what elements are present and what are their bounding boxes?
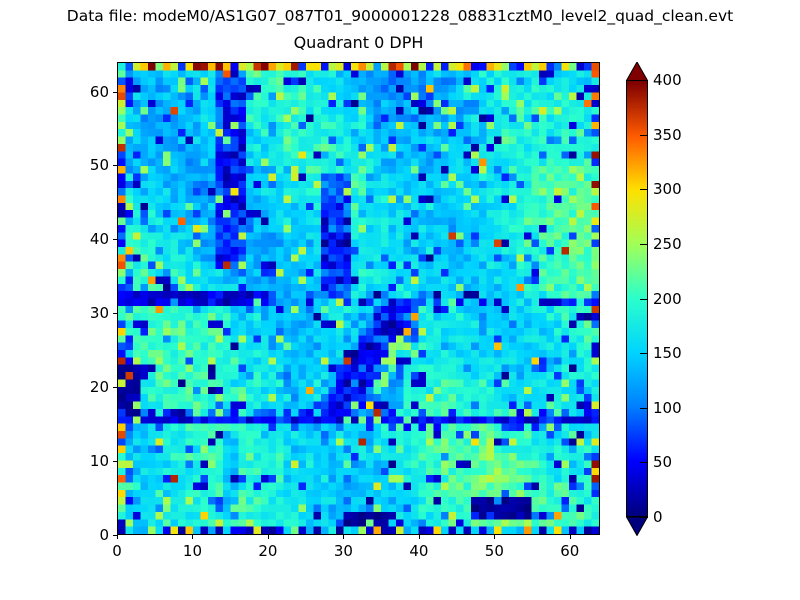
- colorbar-extend-top-arrow: [626, 62, 648, 80]
- x-tick-label: 0: [112, 542, 122, 560]
- colorbar-tick-mark: [640, 462, 648, 463]
- x-tick-label: 40: [409, 542, 428, 560]
- colorbar[interactable]: 050100150200250300350400: [626, 62, 648, 535]
- y-tick-mark: [113, 535, 117, 536]
- y-tick-mark: [113, 92, 117, 93]
- y-tick-label: 60: [69, 83, 109, 101]
- colorbar-tick-label: 0: [653, 508, 663, 526]
- y-tick-mark: [113, 461, 117, 462]
- x-tick-mark: [570, 535, 571, 539]
- y-tick-label: 50: [69, 156, 109, 174]
- y-tick-label: 0: [69, 526, 109, 544]
- colorbar-tick-label: 350: [653, 126, 682, 144]
- colorbar-tick-label: 300: [653, 180, 682, 198]
- x-tick-label: 30: [334, 542, 353, 560]
- colorbar-tick-label: 100: [653, 399, 682, 417]
- colorbar-tick-label: 150: [653, 344, 682, 362]
- colorbar-tick-mark: [640, 299, 648, 300]
- figure-canvas: Data file: modeM0/AS1G07_087T01_90000012…: [0, 0, 800, 600]
- y-tick-mark: [113, 165, 117, 166]
- colorbar-extend-bottom-arrow: [626, 517, 648, 535]
- x-tick-mark: [192, 535, 193, 539]
- x-tick-mark: [494, 535, 495, 539]
- colorbar-tick-mark: [640, 244, 648, 245]
- heatmap-image: [118, 63, 599, 534]
- colorbar-tick-mark: [640, 517, 648, 518]
- y-tick-label: 10: [69, 452, 109, 470]
- x-tick-label: 50: [485, 542, 504, 560]
- x-tick-label: 10: [183, 542, 202, 560]
- colorbar-tick-mark: [640, 408, 648, 409]
- y-tick-mark: [113, 313, 117, 314]
- heatmap-axes[interactable]: [117, 62, 600, 535]
- x-tick-mark: [268, 535, 269, 539]
- colorbar-tick-label: 250: [653, 235, 682, 253]
- colorbar-tick-label: 400: [653, 71, 682, 89]
- colorbar-tick-mark: [640, 189, 648, 190]
- y-tick-label: 40: [69, 230, 109, 248]
- colorbar-tick-label: 50: [653, 453, 672, 471]
- plot-title: Quadrant 0 DPH: [117, 33, 600, 53]
- x-tick-mark: [419, 535, 420, 539]
- figure-suptitle: Data file: modeM0/AS1G07_087T01_90000012…: [0, 6, 800, 26]
- y-tick-mark: [113, 387, 117, 388]
- colorbar-tick-mark: [640, 353, 648, 354]
- x-tick-label: 20: [258, 542, 277, 560]
- colorbar-tick-label: 200: [653, 290, 682, 308]
- x-tick-label: 60: [560, 542, 579, 560]
- y-tick-label: 20: [69, 378, 109, 396]
- y-tick-label: 30: [69, 304, 109, 322]
- colorbar-tick-mark: [640, 135, 648, 136]
- y-tick-mark: [113, 239, 117, 240]
- x-tick-mark: [343, 535, 344, 539]
- colorbar-tick-mark: [640, 80, 648, 81]
- x-tick-mark: [117, 535, 118, 539]
